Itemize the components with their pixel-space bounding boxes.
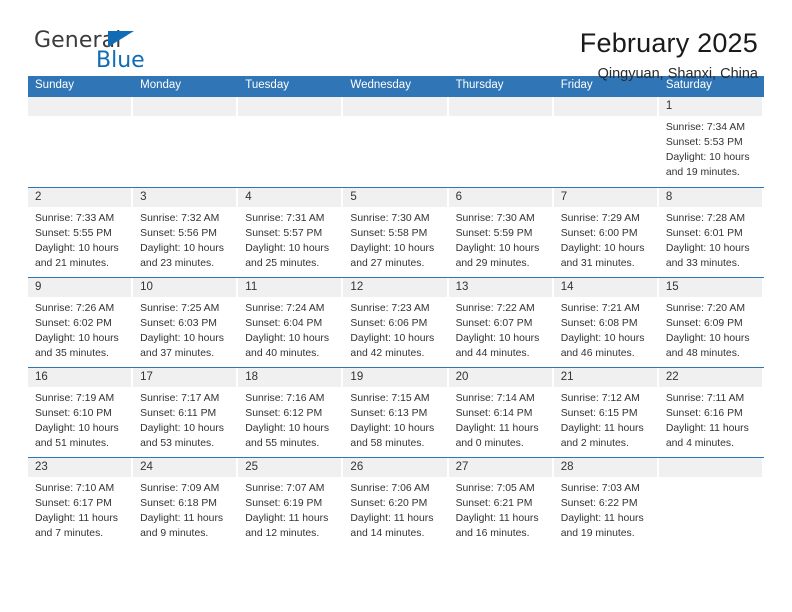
day-number: 15 (659, 278, 762, 294)
calendar-day-cell[interactable]: 28Sunrise: 7:03 AMSunset: 6:22 PMDayligh… (554, 458, 659, 547)
daylight-text: Daylight: 10 hours (35, 241, 127, 256)
weekday-header-thursday: Thursday (449, 76, 554, 97)
sunset-text: Sunset: 6:09 PM (666, 316, 758, 331)
day-number-band: 28 (554, 458, 657, 477)
daylight-text-cont: and 31 minutes. (561, 256, 653, 271)
day-number: 20 (449, 368, 552, 384)
day-detail-lines (133, 116, 238, 120)
daylight-text-cont: and 25 minutes. (245, 256, 337, 271)
daylight-text: Daylight: 11 hours (350, 511, 442, 526)
day-detail-lines: Sunrise: 7:03 AMSunset: 6:22 PMDaylight:… (554, 477, 659, 541)
daylight-text: Daylight: 10 hours (350, 421, 442, 436)
calendar-week-row: 23Sunrise: 7:10 AMSunset: 6:17 PMDayligh… (28, 457, 764, 547)
day-number-band (659, 458, 762, 477)
day-number-band: 21 (554, 368, 657, 387)
calendar-page: General Blue February 2025 Qingyuan, Sha… (0, 0, 792, 612)
day-detail-lines (238, 116, 343, 120)
logo-text-blue: Blue (96, 50, 145, 72)
daylight-text-cont: and 12 minutes. (245, 526, 337, 541)
calendar-day-cell[interactable]: 18Sunrise: 7:16 AMSunset: 6:12 PMDayligh… (238, 368, 343, 457)
day-detail-lines: Sunrise: 7:05 AMSunset: 6:21 PMDaylight:… (449, 477, 554, 541)
day-number-band (28, 97, 131, 116)
calendar-day-cell[interactable]: 3Sunrise: 7:32 AMSunset: 5:56 PMDaylight… (133, 188, 238, 277)
day-detail-lines: Sunrise: 7:26 AMSunset: 6:02 PMDaylight:… (28, 297, 133, 361)
calendar-day-cell[interactable]: 12Sunrise: 7:23 AMSunset: 6:06 PMDayligh… (343, 278, 448, 367)
day-detail-lines: Sunrise: 7:19 AMSunset: 6:10 PMDaylight:… (28, 387, 133, 451)
calendar-day-cell[interactable]: 5Sunrise: 7:30 AMSunset: 5:58 PMDaylight… (343, 188, 448, 277)
calendar-day-cell[interactable]: 2Sunrise: 7:33 AMSunset: 5:55 PMDaylight… (28, 188, 133, 277)
day-number-band: 24 (133, 458, 236, 477)
sunrise-text: Sunrise: 7:21 AM (561, 301, 653, 316)
sunrise-text: Sunrise: 7:05 AM (456, 481, 548, 496)
daylight-text-cont: and 0 minutes. (456, 436, 548, 451)
day-detail-lines: Sunrise: 7:33 AMSunset: 5:55 PMDaylight:… (28, 207, 133, 271)
sunrise-text: Sunrise: 7:07 AM (245, 481, 337, 496)
daylight-text: Daylight: 10 hours (140, 241, 232, 256)
sunset-text: Sunset: 6:20 PM (350, 496, 442, 511)
day-detail-lines: Sunrise: 7:30 AMSunset: 5:58 PMDaylight:… (343, 207, 448, 271)
day-number-band: 8 (659, 188, 762, 207)
daylight-text-cont: and 7 minutes. (35, 526, 127, 541)
sunset-text: Sunset: 6:19 PM (245, 496, 337, 511)
day-number (554, 97, 657, 101)
sunrise-text: Sunrise: 7:22 AM (456, 301, 548, 316)
sunset-text: Sunset: 6:16 PM (666, 406, 758, 421)
day-number-band: 12 (343, 278, 446, 297)
sunset-text: Sunset: 6:21 PM (456, 496, 548, 511)
day-number (343, 97, 446, 101)
day-detail-lines: Sunrise: 7:25 AMSunset: 6:03 PMDaylight:… (133, 297, 238, 361)
daylight-text: Daylight: 10 hours (140, 331, 232, 346)
sunset-text: Sunset: 6:11 PM (140, 406, 232, 421)
day-detail-lines: Sunrise: 7:07 AMSunset: 6:19 PMDaylight:… (238, 477, 343, 541)
calendar-day-cell[interactable]: 17Sunrise: 7:17 AMSunset: 6:11 PMDayligh… (133, 368, 238, 457)
day-number: 18 (238, 368, 341, 384)
day-number (238, 97, 341, 101)
weekday-header-wednesday: Wednesday (343, 76, 448, 97)
calendar-day-cell[interactable]: 14Sunrise: 7:21 AMSunset: 6:08 PMDayligh… (554, 278, 659, 367)
day-detail-lines: Sunrise: 7:10 AMSunset: 6:17 PMDaylight:… (28, 477, 133, 541)
daylight-text: Daylight: 10 hours (456, 241, 548, 256)
daylight-text: Daylight: 11 hours (561, 511, 653, 526)
calendar-day-cell-empty (554, 97, 659, 187)
sunrise-text: Sunrise: 7:25 AM (140, 301, 232, 316)
day-number (659, 458, 762, 462)
sunset-text: Sunset: 6:17 PM (35, 496, 127, 511)
daylight-text: Daylight: 10 hours (245, 331, 337, 346)
day-number: 6 (449, 188, 552, 204)
daylight-text-cont: and 27 minutes. (350, 256, 442, 271)
calendar-day-cell[interactable]: 22Sunrise: 7:11 AMSunset: 6:16 PMDayligh… (659, 368, 764, 457)
daylight-text-cont: and 44 minutes. (456, 346, 548, 361)
day-number-band: 20 (449, 368, 552, 387)
calendar-day-cell[interactable]: 20Sunrise: 7:14 AMSunset: 6:14 PMDayligh… (449, 368, 554, 457)
calendar-day-cell[interactable]: 10Sunrise: 7:25 AMSunset: 6:03 PMDayligh… (133, 278, 238, 367)
sunrise-text: Sunrise: 7:03 AM (561, 481, 653, 496)
sunrise-text: Sunrise: 7:09 AM (140, 481, 232, 496)
sunset-text: Sunset: 5:55 PM (35, 226, 127, 241)
sunrise-text: Sunrise: 7:11 AM (666, 391, 758, 406)
calendar-day-cell[interactable]: 21Sunrise: 7:12 AMSunset: 6:15 PMDayligh… (554, 368, 659, 457)
weekday-header-friday: Friday (554, 76, 659, 97)
logo-triangle-icon (108, 31, 134, 47)
day-detail-lines (28, 116, 133, 120)
day-detail-lines (449, 116, 554, 120)
day-number: 9 (28, 278, 131, 294)
day-number: 1 (659, 97, 762, 113)
day-number-band: 15 (659, 278, 762, 297)
calendar-day-cell[interactable]: 13Sunrise: 7:22 AMSunset: 6:07 PMDayligh… (449, 278, 554, 367)
daylight-text-cont: and 58 minutes. (350, 436, 442, 451)
day-number-band: 23 (28, 458, 131, 477)
calendar-day-cell[interactable]: 9Sunrise: 7:26 AMSunset: 6:02 PMDaylight… (28, 278, 133, 367)
day-number: 4 (238, 188, 341, 204)
daylight-text-cont: and 42 minutes. (350, 346, 442, 361)
day-number: 24 (133, 458, 236, 474)
calendar-day-cell[interactable]: 25Sunrise: 7:07 AMSunset: 6:19 PMDayligh… (238, 458, 343, 547)
day-number-band: 22 (659, 368, 762, 387)
weekday-header-saturday: Saturday (659, 76, 764, 97)
day-detail-lines (343, 116, 448, 120)
sunset-text: Sunset: 6:00 PM (561, 226, 653, 241)
calendar-day-cell[interactable]: 16Sunrise: 7:19 AMSunset: 6:10 PMDayligh… (28, 368, 133, 457)
day-number-band: 27 (449, 458, 552, 477)
day-number-band: 18 (238, 368, 341, 387)
day-number-band: 11 (238, 278, 341, 297)
calendar-day-cell[interactable]: 24Sunrise: 7:09 AMSunset: 6:18 PMDayligh… (133, 458, 238, 547)
calendar-day-cell[interactable]: 1Sunrise: 7:34 AMSunset: 5:53 PMDaylight… (659, 97, 764, 187)
sunrise-text: Sunrise: 7:06 AM (350, 481, 442, 496)
day-number: 12 (343, 278, 446, 294)
sunrise-text: Sunrise: 7:19 AM (35, 391, 127, 406)
daylight-text-cont: and 53 minutes. (140, 436, 232, 451)
sunrise-text: Sunrise: 7:17 AM (140, 391, 232, 406)
day-number: 11 (238, 278, 341, 294)
day-number: 14 (554, 278, 657, 294)
daylight-text-cont: and 33 minutes. (666, 256, 758, 271)
day-detail-lines: Sunrise: 7:16 AMSunset: 6:12 PMDaylight:… (238, 387, 343, 451)
day-number-band: 19 (343, 368, 446, 387)
daylight-text-cont: and 21 minutes. (35, 256, 127, 271)
sunrise-text: Sunrise: 7:14 AM (456, 391, 548, 406)
daylight-text-cont: and 9 minutes. (140, 526, 232, 541)
day-detail-lines: Sunrise: 7:15 AMSunset: 6:13 PMDaylight:… (343, 387, 448, 451)
daylight-text: Daylight: 11 hours (456, 421, 548, 436)
day-number-band: 7 (554, 188, 657, 207)
sunrise-text: Sunrise: 7:12 AM (561, 391, 653, 406)
calendar-weeks: 1Sunrise: 7:34 AMSunset: 5:53 PMDaylight… (28, 97, 764, 547)
day-number-band (449, 97, 552, 116)
daylight-text-cont: and 2 minutes. (561, 436, 653, 451)
calendar-day-cell[interactable]: 4Sunrise: 7:31 AMSunset: 5:57 PMDaylight… (238, 188, 343, 277)
sunrise-text: Sunrise: 7:10 AM (35, 481, 127, 496)
sunset-text: Sunset: 5:59 PM (456, 226, 548, 241)
day-detail-lines: Sunrise: 7:12 AMSunset: 6:15 PMDaylight:… (554, 387, 659, 451)
day-number: 26 (343, 458, 446, 474)
day-number: 27 (449, 458, 552, 474)
sunrise-text: Sunrise: 7:24 AM (245, 301, 337, 316)
day-detail-lines: Sunrise: 7:30 AMSunset: 5:59 PMDaylight:… (449, 207, 554, 271)
general-blue-logo[interactable]: General Blue (34, 28, 194, 80)
sunrise-text: Sunrise: 7:23 AM (350, 301, 442, 316)
day-number: 17 (133, 368, 236, 384)
day-number-band: 10 (133, 278, 236, 297)
calendar-day-cell[interactable]: 15Sunrise: 7:20 AMSunset: 6:09 PMDayligh… (659, 278, 764, 367)
sunrise-text: Sunrise: 7:29 AM (561, 211, 653, 226)
calendar-day-cell[interactable]: 23Sunrise: 7:10 AMSunset: 6:17 PMDayligh… (28, 458, 133, 547)
calendar-day-cell-empty (343, 97, 448, 187)
calendar-grid: SundayMondayTuesdayWednesdayThursdayFrid… (28, 76, 764, 547)
sunset-text: Sunset: 6:12 PM (245, 406, 337, 421)
daylight-text: Daylight: 10 hours (350, 331, 442, 346)
day-number-band (238, 97, 341, 116)
calendar-day-cell-empty (238, 97, 343, 187)
calendar-week-row: 1Sunrise: 7:34 AMSunset: 5:53 PMDaylight… (28, 97, 764, 187)
daylight-text-cont: and 48 minutes. (666, 346, 758, 361)
sunset-text: Sunset: 6:15 PM (561, 406, 653, 421)
daylight-text-cont: and 29 minutes. (456, 256, 548, 271)
day-number (28, 97, 131, 101)
day-detail-lines: Sunrise: 7:23 AMSunset: 6:06 PMDaylight:… (343, 297, 448, 361)
daylight-text-cont: and 19 minutes. (666, 165, 758, 180)
day-number: 21 (554, 368, 657, 384)
day-number: 28 (554, 458, 657, 474)
day-number (133, 97, 236, 101)
sunset-text: Sunset: 5:57 PM (245, 226, 337, 241)
day-number (449, 97, 552, 101)
sunrise-text: Sunrise: 7:16 AM (245, 391, 337, 406)
sunrise-text: Sunrise: 7:15 AM (350, 391, 442, 406)
daylight-text-cont: and 40 minutes. (245, 346, 337, 361)
sunrise-text: Sunrise: 7:33 AM (35, 211, 127, 226)
calendar-day-cell-empty (449, 97, 554, 187)
day-number: 23 (28, 458, 131, 474)
day-detail-lines: Sunrise: 7:11 AMSunset: 6:16 PMDaylight:… (659, 387, 764, 451)
day-number-band: 25 (238, 458, 341, 477)
daylight-text-cont: and 55 minutes. (245, 436, 337, 451)
daylight-text-cont: and 16 minutes. (456, 526, 548, 541)
daylight-text-cont: and 51 minutes. (35, 436, 127, 451)
daylight-text-cont: and 14 minutes. (350, 526, 442, 541)
daylight-text-cont: and 19 minutes. (561, 526, 653, 541)
sunrise-text: Sunrise: 7:32 AM (140, 211, 232, 226)
daylight-text: Daylight: 11 hours (245, 511, 337, 526)
daylight-text: Daylight: 10 hours (666, 241, 758, 256)
daylight-text-cont: and 35 minutes. (35, 346, 127, 361)
daylight-text: Daylight: 11 hours (140, 511, 232, 526)
day-detail-lines: Sunrise: 7:21 AMSunset: 6:08 PMDaylight:… (554, 297, 659, 361)
sunset-text: Sunset: 6:18 PM (140, 496, 232, 511)
day-detail-lines: Sunrise: 7:29 AMSunset: 6:00 PMDaylight:… (554, 207, 659, 271)
day-number: 3 (133, 188, 236, 204)
day-detail-lines: Sunrise: 7:31 AMSunset: 5:57 PMDaylight:… (238, 207, 343, 271)
calendar-day-cell[interactable]: 27Sunrise: 7:05 AMSunset: 6:21 PMDayligh… (449, 458, 554, 547)
day-number-band: 13 (449, 278, 552, 297)
day-number-band: 16 (28, 368, 131, 387)
daylight-text: Daylight: 10 hours (561, 331, 653, 346)
daylight-text: Daylight: 10 hours (35, 421, 127, 436)
day-number: 2 (28, 188, 131, 204)
calendar-week-row: 2Sunrise: 7:33 AMSunset: 5:55 PMDaylight… (28, 187, 764, 277)
day-number: 25 (238, 458, 341, 474)
sunrise-text: Sunrise: 7:28 AM (666, 211, 758, 226)
daylight-text: Daylight: 10 hours (456, 331, 548, 346)
calendar-day-cell-empty (133, 97, 238, 187)
daylight-text: Daylight: 11 hours (456, 511, 548, 526)
day-detail-lines: Sunrise: 7:22 AMSunset: 6:07 PMDaylight:… (449, 297, 554, 361)
day-number: 10 (133, 278, 236, 294)
sunset-text: Sunset: 5:56 PM (140, 226, 232, 241)
calendar-day-cell[interactable]: 19Sunrise: 7:15 AMSunset: 6:13 PMDayligh… (343, 368, 448, 457)
sunset-text: Sunset: 6:13 PM (350, 406, 442, 421)
day-number-band (554, 97, 657, 116)
day-number-band: 1 (659, 97, 762, 116)
calendar-day-cell[interactable]: 6Sunrise: 7:30 AMSunset: 5:59 PMDaylight… (449, 188, 554, 277)
day-detail-lines: Sunrise: 7:34 AMSunset: 5:53 PMDaylight:… (659, 116, 764, 180)
daylight-text: Daylight: 10 hours (666, 150, 758, 165)
daylight-text: Daylight: 11 hours (561, 421, 653, 436)
sunrise-text: Sunrise: 7:31 AM (245, 211, 337, 226)
daylight-text: Daylight: 10 hours (666, 331, 758, 346)
daylight-text: Daylight: 10 hours (561, 241, 653, 256)
sunrise-text: Sunrise: 7:30 AM (350, 211, 442, 226)
day-detail-lines (659, 477, 764, 481)
calendar-day-cell-empty (659, 458, 764, 547)
daylight-text: Daylight: 11 hours (35, 511, 127, 526)
sunset-text: Sunset: 6:04 PM (245, 316, 337, 331)
day-detail-lines: Sunrise: 7:09 AMSunset: 6:18 PMDaylight:… (133, 477, 238, 541)
day-number: 5 (343, 188, 446, 204)
day-number: 8 (659, 188, 762, 204)
daylight-text: Daylight: 11 hours (666, 421, 758, 436)
sunset-text: Sunset: 5:58 PM (350, 226, 442, 241)
sunset-text: Sunset: 6:07 PM (456, 316, 548, 331)
sunrise-text: Sunrise: 7:34 AM (666, 120, 758, 135)
daylight-text-cont: and 46 minutes. (561, 346, 653, 361)
sunset-text: Sunset: 6:06 PM (350, 316, 442, 331)
calendar-week-row: 16Sunrise: 7:19 AMSunset: 6:10 PMDayligh… (28, 367, 764, 457)
calendar-day-cell-empty (28, 97, 133, 187)
sunrise-text: Sunrise: 7:26 AM (35, 301, 127, 316)
page-header: General Blue February 2025 Qingyuan, Sha… (0, 0, 792, 76)
title-block: February 2025 Qingyuan, Shanxi, China (580, 28, 758, 82)
day-number-band: 9 (28, 278, 131, 297)
day-number: 22 (659, 368, 762, 384)
day-detail-lines: Sunrise: 7:20 AMSunset: 6:09 PMDaylight:… (659, 297, 764, 361)
sunrise-text: Sunrise: 7:30 AM (456, 211, 548, 226)
daylight-text: Daylight: 10 hours (245, 421, 337, 436)
day-number-band: 2 (28, 188, 131, 207)
day-detail-lines: Sunrise: 7:24 AMSunset: 6:04 PMDaylight:… (238, 297, 343, 361)
day-number-band: 26 (343, 458, 446, 477)
sunset-text: Sunset: 6:08 PM (561, 316, 653, 331)
day-detail-lines: Sunrise: 7:14 AMSunset: 6:14 PMDaylight:… (449, 387, 554, 451)
day-number-band (133, 97, 236, 116)
sunset-text: Sunset: 6:02 PM (35, 316, 127, 331)
day-number-band: 4 (238, 188, 341, 207)
daylight-text: Daylight: 10 hours (350, 241, 442, 256)
day-number-band: 5 (343, 188, 446, 207)
daylight-text: Daylight: 10 hours (245, 241, 337, 256)
sunset-text: Sunset: 6:14 PM (456, 406, 548, 421)
daylight-text: Daylight: 10 hours (140, 421, 232, 436)
daylight-text-cont: and 23 minutes. (140, 256, 232, 271)
day-detail-lines: Sunrise: 7:32 AMSunset: 5:56 PMDaylight:… (133, 207, 238, 271)
sunset-text: Sunset: 5:53 PM (666, 135, 758, 150)
daylight-text-cont: and 37 minutes. (140, 346, 232, 361)
weekday-header-tuesday: Tuesday (238, 76, 343, 97)
sunset-text: Sunset: 6:22 PM (561, 496, 653, 511)
day-detail-lines (554, 116, 659, 120)
calendar-day-cell[interactable]: 11Sunrise: 7:24 AMSunset: 6:04 PMDayligh… (238, 278, 343, 367)
day-number: 7 (554, 188, 657, 204)
day-number: 13 (449, 278, 552, 294)
daylight-text-cont: and 4 minutes. (666, 436, 758, 451)
daylight-text: Daylight: 10 hours (35, 331, 127, 346)
sunset-text: Sunset: 6:03 PM (140, 316, 232, 331)
day-number-band: 14 (554, 278, 657, 297)
day-detail-lines: Sunrise: 7:17 AMSunset: 6:11 PMDaylight:… (133, 387, 238, 451)
day-number-band: 3 (133, 188, 236, 207)
page-title: February 2025 (580, 28, 758, 59)
calendar-day-cell[interactable]: 7Sunrise: 7:29 AMSunset: 6:00 PMDaylight… (554, 188, 659, 277)
calendar-day-cell[interactable]: 26Sunrise: 7:06 AMSunset: 6:20 PMDayligh… (343, 458, 448, 547)
sunset-text: Sunset: 6:01 PM (666, 226, 758, 241)
day-detail-lines: Sunrise: 7:28 AMSunset: 6:01 PMDaylight:… (659, 207, 764, 271)
calendar-week-row: 9Sunrise: 7:26 AMSunset: 6:02 PMDaylight… (28, 277, 764, 367)
day-number: 16 (28, 368, 131, 384)
day-detail-lines: Sunrise: 7:06 AMSunset: 6:20 PMDaylight:… (343, 477, 448, 541)
day-number-band: 17 (133, 368, 236, 387)
calendar-day-cell[interactable]: 8Sunrise: 7:28 AMSunset: 6:01 PMDaylight… (659, 188, 764, 277)
day-number-band (343, 97, 446, 116)
sunset-text: Sunset: 6:10 PM (35, 406, 127, 421)
day-number: 19 (343, 368, 446, 384)
day-number-band: 6 (449, 188, 552, 207)
sunrise-text: Sunrise: 7:20 AM (666, 301, 758, 316)
